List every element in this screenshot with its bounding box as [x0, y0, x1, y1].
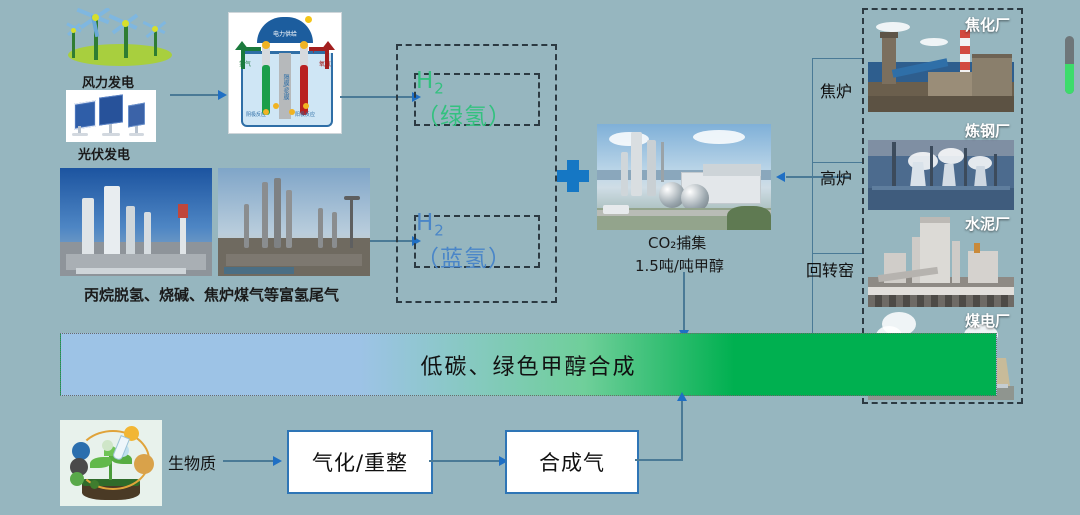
diagram-canvas: 风力发电 光伏发电 电力供给 隔膜/浆膜 − +: [0, 0, 1080, 515]
connector-syngas-elbow: [635, 459, 683, 461]
connector-renewables-to-electrolyzer: [170, 94, 220, 96]
blue-hydrogen-box[interactable]: H2（蓝氢）: [414, 215, 540, 268]
facility-coking-plant: 焦化厂: [868, 12, 1014, 112]
connector-biomass-to-gasification: [223, 460, 276, 462]
electrolyzer-anode-label: 阳极反应: [295, 111, 315, 118]
connector-syngas-to-band: [681, 400, 683, 460]
arrow-biomass-to-gasification: [273, 456, 282, 466]
scrollbar-thumb[interactable]: [1065, 64, 1074, 94]
blue-hydrogen-label: H2（蓝氢）: [416, 210, 538, 274]
feedstock-caption: 丙烷脱氢、烧碱、焦炉煤气等富氢尾气: [84, 284, 339, 305]
co2-capture-image: [597, 124, 771, 230]
green-hydrogen-box[interactable]: H2（绿氢）: [414, 73, 540, 126]
facility-label-coking-plant: 焦化厂: [965, 14, 1010, 35]
gasification-box[interactable]: 气化/重整: [287, 430, 433, 494]
refinery-image-2: [218, 168, 370, 276]
co2-capture-caption-line2: 1.5吨/吨甲醇: [635, 255, 724, 276]
electrolyzer-membrane-label: 隔膜/浆膜: [280, 65, 290, 109]
wind-power-label: 风力发电: [82, 72, 134, 91]
arrow-syngas-to-band: [677, 392, 687, 401]
bracket-separator-2: [812, 253, 862, 254]
facility-steelworks: 炼钢厂: [868, 118, 1014, 210]
methanol-synthesis-band: 低碳、绿色甲醇合成: [60, 333, 997, 396]
solar-power-label: 光伏发电: [78, 144, 130, 163]
connector-gasification-to-syngas: [429, 460, 502, 462]
electrolyzer-oxygen-label: 氧气: [319, 59, 331, 68]
arrow-renewables-to-electrolyzer: [218, 90, 227, 100]
electrolyzer-power-label: 电力供给: [259, 29, 311, 41]
plus-icon: [557, 160, 589, 192]
source-label-blast-furnace: 高炉: [820, 165, 852, 189]
electrolyzer-image: 电力供给 隔膜/浆膜 − + 氢气 氧气 阴极反应 阳极反应: [228, 12, 342, 134]
arrow-facilities-to-co2: [776, 172, 785, 182]
connector-co2-to-band: [683, 272, 685, 332]
biomass-icon: [60, 420, 162, 506]
bracket-separator-1: [812, 162, 862, 163]
source-label-rotary-kiln: 回转窑: [806, 257, 854, 281]
co2-capture-caption-line1: CO₂捕集: [648, 232, 706, 253]
source-label-coke-oven: 焦炉: [820, 78, 852, 102]
facility-label-steelworks: 炼钢厂: [965, 120, 1010, 141]
methanol-synthesis-label: 低碳、绿色甲醇合成: [420, 349, 636, 381]
syngas-box[interactable]: 合成气: [505, 430, 639, 494]
green-hydrogen-label: H2（绿氢）: [416, 68, 538, 132]
wind-power-image: [62, 8, 178, 70]
solar-power-image: [66, 90, 156, 142]
electrolyzer-hydrogen-label: 氢气: [239, 59, 251, 68]
facility-cement-plant: 水泥厂: [868, 211, 1014, 307]
refinery-image-1: [60, 168, 212, 276]
gasification-label: 气化/重整: [312, 447, 408, 477]
page-scrollbar[interactable]: [1065, 36, 1074, 94]
facility-label-cement-plant: 水泥厂: [965, 213, 1010, 234]
syngas-label: 合成气: [539, 447, 605, 477]
biomass-label: 生物质: [168, 450, 216, 474]
facility-label-coal-power-plant: 煤电厂: [965, 310, 1010, 331]
